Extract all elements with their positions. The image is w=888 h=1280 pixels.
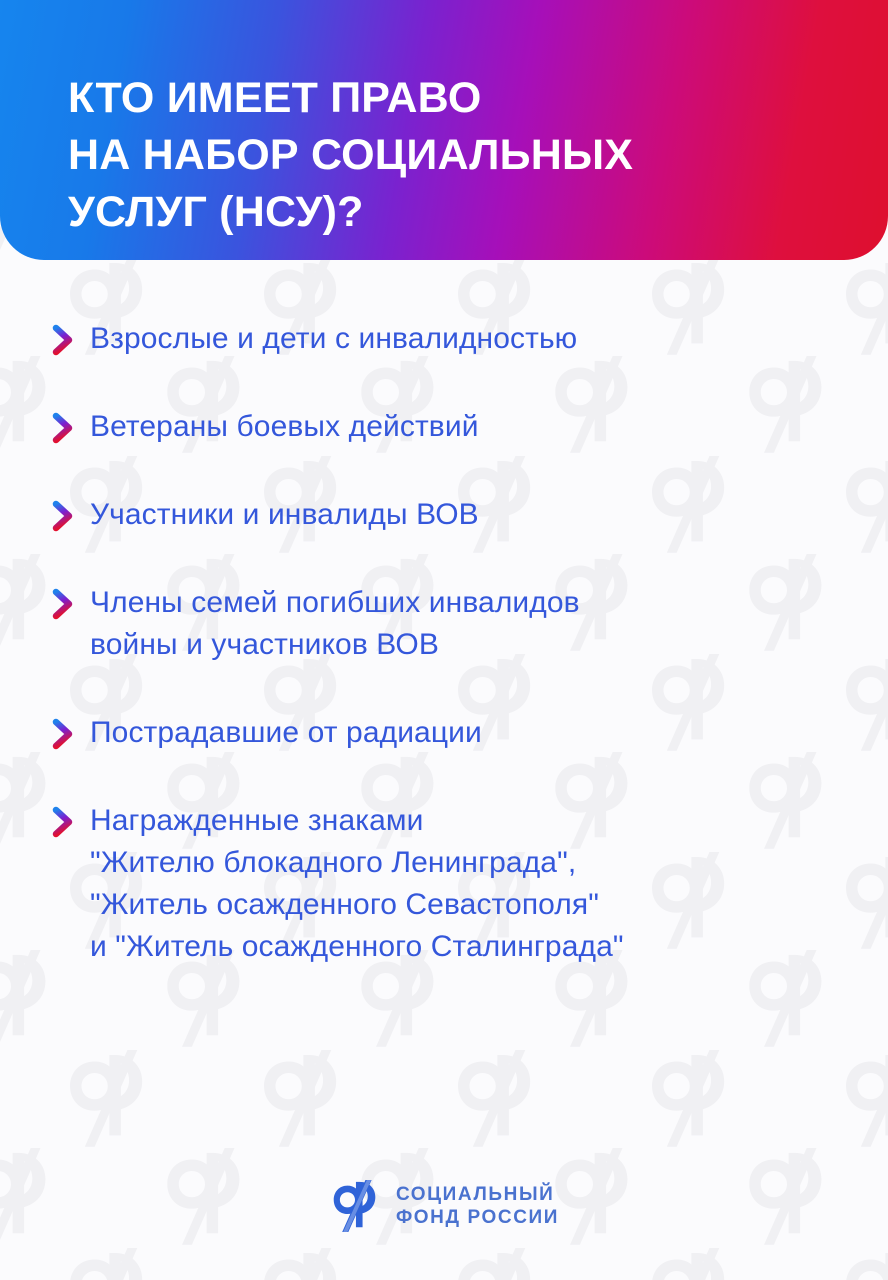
header-banner: КТО ИМЕЕТ ПРАВО НА НАБОР СОЦИАЛЬНЫХ УСЛУ… bbox=[0, 0, 888, 260]
chevron-right-icon bbox=[52, 412, 74, 444]
eligibility-list: Взрослые и дети с инвалидностью Ветераны… bbox=[0, 318, 888, 1014]
list-item: Участники и инвалиды ВОВ bbox=[0, 494, 888, 536]
list-item: Ветераны боевых действий bbox=[0, 406, 888, 448]
chevron-right-icon bbox=[52, 324, 74, 356]
chevron-right-icon bbox=[52, 806, 74, 838]
list-item: Награжденные знаками "Жителю блокадного … bbox=[0, 800, 888, 968]
footer-logo-text: СОЦИАЛЬНЫЙ ФОНД РОССИИ bbox=[396, 1183, 559, 1229]
list-item-label: Взрослые и дети с инвалидностью bbox=[90, 318, 880, 360]
footer-branding: СОЦИАЛЬНЫЙ ФОНД РОССИИ bbox=[0, 1180, 888, 1232]
list-item-label: Члены семей погибших инвалидов войны и у… bbox=[90, 582, 880, 666]
chevron-right-icon bbox=[52, 718, 74, 750]
list-item: Пострадавшие от радиации bbox=[0, 712, 888, 754]
poster-root: КТО ИМЕЕТ ПРАВО НА НАБОР СОЦИАЛЬНЫХ УСЛУ… bbox=[0, 0, 888, 1280]
list-item: Взрослые и дети с инвалидностью bbox=[0, 318, 888, 360]
list-item: Члены семей погибших инвалидов войны и у… bbox=[0, 582, 888, 666]
sfr-logo-icon bbox=[329, 1180, 381, 1232]
page-title: КТО ИМЕЕТ ПРАВО НА НАБОР СОЦИАЛЬНЫХ УСЛУ… bbox=[68, 70, 858, 241]
list-item-label: Участники и инвалиды ВОВ bbox=[90, 494, 880, 536]
chevron-right-icon bbox=[52, 588, 74, 620]
list-item-label: Пострадавшие от радиации bbox=[90, 712, 880, 754]
list-item-label: Награжденные знаками "Жителю блокадного … bbox=[90, 800, 880, 968]
list-item-label: Ветераны боевых действий bbox=[90, 406, 880, 448]
chevron-right-icon bbox=[52, 500, 74, 532]
